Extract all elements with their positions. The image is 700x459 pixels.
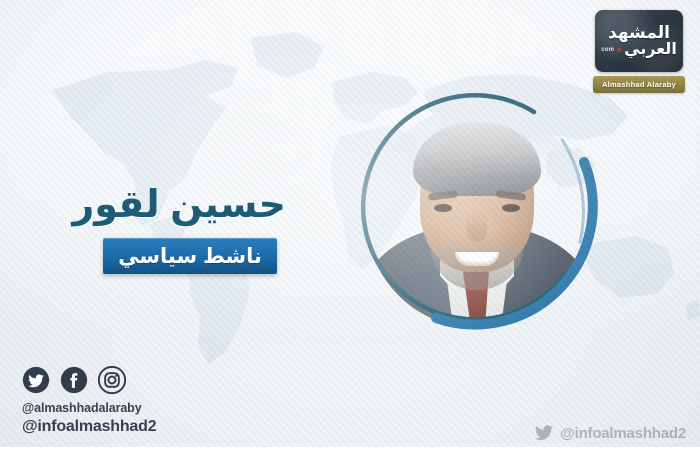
status-badge: ناشط سياسي: [103, 238, 277, 274]
twitter-icon[interactable]: [22, 366, 50, 394]
social-block: @almashhadalaraby @infoalmashhad2: [22, 366, 156, 437]
social-icon-row: [22, 366, 156, 394]
watermark-handle: @infoalmashhad2: [560, 425, 686, 442]
twitter-icon: [534, 423, 554, 443]
social-handle-primary[interactable]: @almashhadalaraby: [22, 400, 156, 417]
bottom-strip: [0, 447, 700, 459]
logo-mark: المشهد com العربي: [595, 10, 683, 72]
logo-line2-row: com العربي: [601, 42, 677, 58]
logo-com-label: com: [601, 47, 614, 53]
logo-arabic-line2: العربي: [624, 42, 677, 58]
social-handle-secondary[interactable]: @infoalmashhad2: [22, 417, 156, 437]
logo-nameplate: Almashhad Alaraby: [593, 76, 685, 93]
facebook-icon[interactable]: [60, 366, 88, 394]
logo-nameplate-label: Almashhad Alaraby: [602, 80, 676, 89]
portrait-area: [348, 92, 616, 354]
instagram-icon[interactable]: [98, 366, 126, 394]
logo-arabic-line1: المشهد: [608, 24, 670, 41]
watermark: @infoalmashhad2: [534, 423, 686, 443]
portrait-ring-decoration: [348, 92, 616, 354]
logo-dot-icon: [617, 48, 621, 52]
brand-logo[interactable]: المشهد com العربي Almashhad Alaraby: [590, 10, 688, 98]
status-badge-label: ناشط سياسي: [118, 244, 262, 269]
promo-card: حسين لقور ناشط سياسي المشهد com العربي A…: [0, 0, 700, 459]
person-name: حسين لقور: [0, 186, 286, 226]
